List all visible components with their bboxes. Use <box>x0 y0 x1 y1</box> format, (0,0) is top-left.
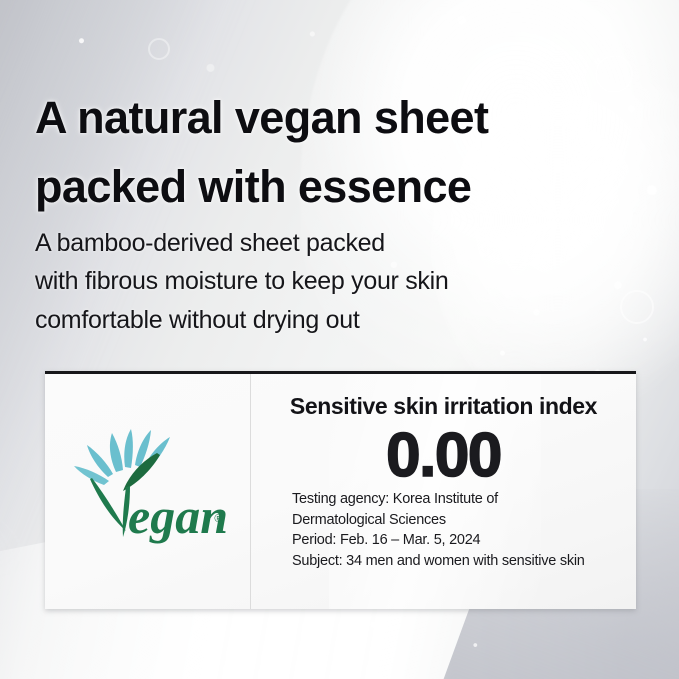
card-logo-panel: egan ® <box>45 374 251 609</box>
card-info-panel: Sensitive skin irritation index 0.00 Tes… <box>251 374 636 609</box>
registered-trademark-icon: ® <box>214 514 222 525</box>
card-title: Sensitive skin irritation index <box>251 393 636 420</box>
vegan-wordmark: egan <box>128 488 228 544</box>
page-title: A natural vegan sheet packed with essenc… <box>35 84 635 222</box>
irritation-score-value: 0.00 <box>251 424 636 487</box>
vegan-logo-svg: egan <box>68 417 228 567</box>
v-stem-icon <box>90 478 126 531</box>
card-test-details: Testing agency: Korea Institute of Derma… <box>292 489 636 571</box>
page-subtitle: A bamboo-derived sheet packed with fibro… <box>35 224 635 339</box>
vegan-certification-logo: egan ® <box>68 417 228 567</box>
product-detail-image: A natural vegan sheet packed with essenc… <box>0 0 679 679</box>
irritation-index-card: egan ® Sensitive skin irritation index 0… <box>45 371 636 609</box>
